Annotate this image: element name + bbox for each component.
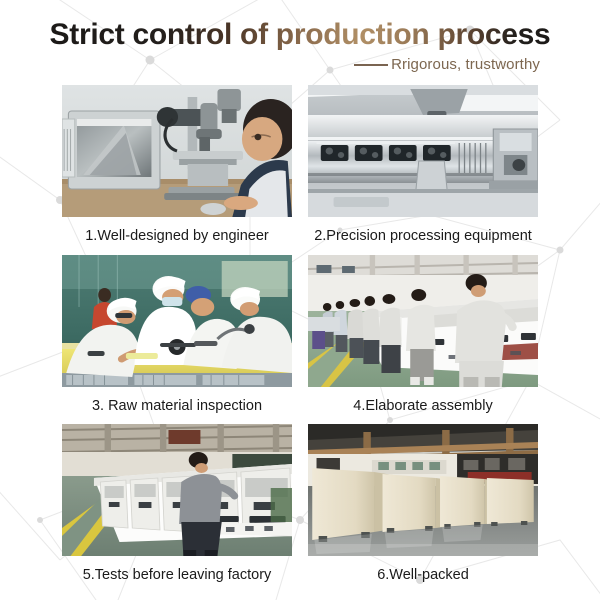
assembly-line-photo	[308, 255, 538, 387]
subtitle-row: Rrigorous, trustworthy	[28, 56, 572, 73]
process-infographic-page: Strict control of production process Rri…	[0, 0, 600, 600]
process-step-4-caption: 4.Elaborate assembly	[353, 387, 492, 425]
process-step-6-caption: 6.Well-packed	[377, 556, 469, 594]
process-steps-grid: 1.Well-designed by engineer	[0, 85, 600, 594]
process-step-5-caption: 5.Tests before leaving factory	[83, 556, 272, 594]
cnc-machining-photo	[308, 85, 538, 217]
process-step-1: 1.Well-designed by engineer	[62, 85, 292, 255]
page-title: Strict control of production process	[50, 18, 551, 51]
process-step-3-caption: 3. Raw material inspection	[92, 387, 262, 425]
process-step-4: 4.Elaborate assembly	[308, 255, 538, 425]
page-subtitle: Rrigorous, trustworthy	[391, 56, 540, 73]
process-step-2: 2.Precision processing equipment	[308, 85, 538, 255]
process-step-3: 3. Raw material inspection	[62, 255, 292, 425]
engineer-microscope-photo	[62, 85, 292, 217]
factory-testing-photo	[62, 424, 292, 556]
subtitle-dash-rule	[354, 64, 388, 66]
process-step-2-caption: 2.Precision processing equipment	[314, 217, 532, 255]
packed-crates-photo	[308, 424, 538, 556]
process-step-6: 6.Well-packed	[308, 424, 538, 594]
header: Strict control of production process Rri…	[0, 0, 600, 73]
cleanroom-inspection-photo	[62, 255, 292, 387]
process-step-5: 5.Tests before leaving factory	[62, 424, 292, 594]
process-step-1-caption: 1.Well-designed by engineer	[85, 217, 269, 255]
